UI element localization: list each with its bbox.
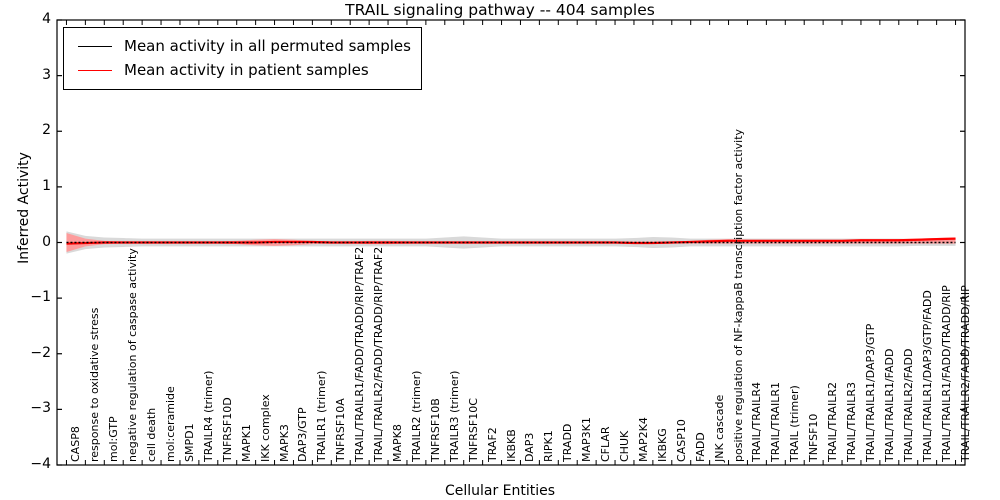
- x-tick-label: mol:GTP: [108, 416, 119, 462]
- y-tick-label: 2: [7, 123, 51, 137]
- x-tick-label: TRAILR2 (trimer): [411, 371, 422, 462]
- legend-swatch-icon: [78, 70, 112, 71]
- legend-label: Mean activity in patient samples: [124, 61, 369, 79]
- x-tick-label: TNFSF10: [808, 414, 819, 462]
- x-tick-label: TNFRSF10A: [335, 398, 346, 462]
- x-tick-label: TRAIL/TRAILR2/FADD/TRADD/RIP: [960, 285, 971, 462]
- x-tick-label: CFLAR: [600, 426, 611, 462]
- x-tick-label: MAPK1: [241, 424, 252, 462]
- x-tick-label: negative regulation of caspase activity: [127, 248, 138, 462]
- x-tick-label: FADD: [695, 432, 706, 462]
- x-tick-label: TNFRSF10C: [468, 398, 479, 462]
- x-tick-label: TRAIL/TRAILR3: [846, 382, 857, 462]
- x-tick-label: CASP8: [70, 426, 81, 462]
- legend-item: Mean activity in patient samples: [72, 58, 411, 82]
- x-tick-label: TRAIL/TRAILR2/FADD: [903, 349, 914, 462]
- x-tick-label: IKBKB: [506, 429, 517, 462]
- x-tick-label: TRAIL/TRAILR2/FADD/TRADD/RIP/TRAF2: [373, 247, 384, 462]
- chart-title: TRAIL signaling pathway -- 404 samples: [0, 1, 1000, 19]
- x-tick-label: JNK cascade: [714, 395, 725, 462]
- x-tick-label: TRAILR4 (trimer): [203, 371, 214, 462]
- legend-swatch-icon: [78, 46, 112, 47]
- x-tick-label: CASP10: [676, 419, 687, 462]
- x-tick-label: MAP2K4: [638, 417, 649, 462]
- x-tick-label: MAPK3: [279, 424, 290, 462]
- x-tick-label: MAPK8: [392, 424, 403, 462]
- x-tick-label: MAP3K1: [581, 417, 592, 462]
- x-tick-label: TRAIL (trimer): [789, 385, 800, 462]
- y-tick-label: −2: [7, 346, 51, 360]
- x-tick-label: IKBKG: [657, 428, 668, 462]
- x-tick-label: response to oxidative stress: [89, 308, 100, 462]
- x-tick-label: SMPD1: [184, 423, 195, 462]
- x-axis-label: Cellular Entities: [0, 483, 1000, 499]
- y-tick-label: −1: [7, 290, 51, 304]
- x-tick-label: IKK complex: [260, 394, 271, 462]
- legend-item: Mean activity in all permuted samples: [72, 34, 411, 58]
- x-tick-label: TNFRSF10B: [430, 398, 441, 462]
- x-tick-label: TRAIL/TRAILR1/FADD/TRADD/RIP/TRAF2: [354, 247, 365, 462]
- y-tick-label: 1: [7, 179, 51, 193]
- x-tick-label: DAP3: [524, 433, 535, 462]
- x-tick-label: TRAIL/TRAILR1/DAP3/GTP: [865, 324, 876, 462]
- y-tick-label: −3: [7, 401, 51, 415]
- x-tick-label: TRAILR1 (trimer): [316, 371, 327, 462]
- y-tick-label: 0: [7, 235, 51, 249]
- y-tick-label: 3: [7, 68, 51, 82]
- x-tick-label: cell death: [146, 408, 157, 462]
- x-tick-label: TNFRSF10D: [222, 397, 233, 462]
- x-tick-label: TRADD: [562, 424, 573, 462]
- y-tick-label: 4: [7, 12, 51, 26]
- chart-legend: Mean activity in all permuted samplesMea…: [63, 27, 422, 90]
- y-tick-label: −4: [7, 457, 51, 471]
- x-tick-label: TRAIL/TRAILR2: [827, 382, 838, 462]
- x-tick-label: RIPK1: [543, 430, 554, 462]
- x-tick-label: TRAF2: [487, 427, 498, 462]
- x-tick-label: TRAIL/TRAILR1/DAP3/GTP/FADD: [922, 290, 933, 462]
- x-tick-label: TRAILR3 (trimer): [449, 371, 460, 462]
- legend-label: Mean activity in all permuted samples: [124, 37, 411, 55]
- x-tick-label: positive regulation of NF-kappaB transcr…: [733, 129, 744, 462]
- x-tick-label: TRAIL/TRAILR1/FADD/TRADD/RIP: [941, 285, 952, 462]
- x-tick-label: TRAIL/TRAILR4: [751, 382, 762, 462]
- x-tick-label: DAP3/GTP: [297, 407, 308, 462]
- figure: TRAIL signaling pathway -- 404 samples I…: [0, 0, 1000, 500]
- x-tick-label: TRAIL/TRAILR1: [770, 382, 781, 462]
- x-tick-label: CHUK: [619, 431, 630, 462]
- x-tick-label: mol:ceramide: [165, 386, 176, 462]
- x-tick-label: TRAIL/TRAILR1/FADD: [884, 349, 895, 462]
